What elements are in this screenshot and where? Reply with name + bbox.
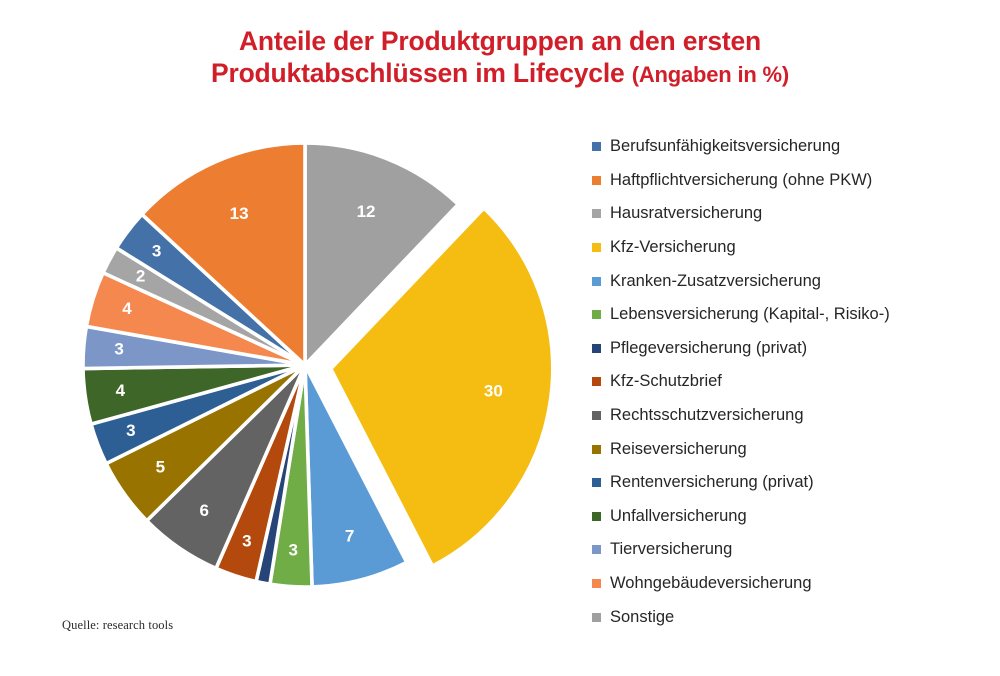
legend-item[interactable]: Wohngebäudeversicherung (592, 567, 992, 601)
pie-slice-value-label: 3 (242, 532, 251, 551)
legend-item[interactable]: Rechtsschutzversicherung (592, 399, 992, 433)
legend-item-label: Berufsunfähigkeitsversicherung (610, 137, 840, 156)
legend-swatch-icon (592, 411, 601, 420)
legend-item[interactable]: Rentenversicherung (privat) (592, 466, 992, 500)
legend-swatch-icon (592, 579, 601, 588)
title-unit-note: (Angaben in %) (632, 62, 789, 87)
legend-item-label: Hausratversicherung (610, 204, 762, 223)
pie-chart: 12307336534342313 (30, 130, 570, 650)
legend-swatch-icon (592, 445, 601, 454)
legend-item-label: Pflegeversicherung (privat) (610, 339, 807, 358)
pie-slice-value-label: 2 (136, 266, 145, 285)
pie-slice-value-label: 3 (288, 541, 297, 560)
pie-slice-value-label: 6 (200, 501, 209, 520)
pie-slice-value-label: 3 (114, 340, 123, 359)
legend-item[interactable]: Lebensversicherung (Kapital-, Risiko-) (592, 298, 992, 332)
legend-item[interactable]: Sonstige (592, 600, 992, 634)
chart-legend: BerufsunfähigkeitsversicherungHaftpflich… (592, 130, 992, 634)
legend-item-label: Sonstige (610, 608, 674, 627)
legend-item[interactable]: Reiseversicherung (592, 432, 992, 466)
legend-item[interactable]: Berufsunfähigkeitsversicherung (592, 130, 992, 164)
page-title: Anteile der Produktgruppen an den ersten… (0, 26, 1000, 90)
legend-item-label: Tierversicherung (610, 540, 732, 559)
legend-item-label: Reiseversicherung (610, 440, 747, 459)
legend-item[interactable]: Kranken-Zusatzversicherung (592, 264, 992, 298)
legend-item-label: Rechtsschutzversicherung (610, 406, 804, 425)
source-note: Quelle: research tools (62, 618, 173, 633)
legend-swatch-icon (592, 478, 601, 487)
legend-item[interactable]: Unfallversicherung (592, 500, 992, 534)
legend-item-label: Kfz-Schutzbrief (610, 372, 722, 391)
legend-item[interactable]: Pflegeversicherung (privat) (592, 332, 992, 366)
title-line-2-main: Produktabschlüssen im Lifecycle (211, 58, 625, 88)
legend-item-label: Unfallversicherung (610, 507, 747, 526)
legend-swatch-icon (592, 142, 601, 151)
legend-swatch-icon (592, 512, 601, 521)
legend-swatch-icon (592, 176, 601, 185)
pie-chart-svg: 12307336534342313 (30, 130, 570, 650)
legend-swatch-icon (592, 277, 601, 286)
legend-item-label: Rentenversicherung (privat) (610, 473, 814, 492)
pie-slice-value-label: 3 (126, 421, 135, 440)
pie-slice-value-label: 12 (357, 202, 376, 221)
title-line-2: Produktabschlüssen im Lifecycle (Angaben… (0, 58, 1000, 90)
pie-slice-value-label: 3 (152, 242, 161, 261)
legend-swatch-icon (592, 613, 601, 622)
chart-page: Anteile der Produktgruppen an den ersten… (0, 0, 1000, 676)
legend-item-label: Lebensversicherung (Kapital-, Risiko-) (610, 305, 890, 324)
legend-item[interactable]: Haftpflichtversicherung (ohne PKW) (592, 164, 992, 198)
legend-swatch-icon (592, 209, 601, 218)
legend-item-label: Kranken-Zusatzversicherung (610, 272, 821, 291)
legend-item[interactable]: Tierversicherung (592, 533, 992, 567)
title-line-1: Anteile der Produktgruppen an den ersten (0, 26, 1000, 58)
pie-slice-value-label: 5 (156, 458, 165, 477)
pie-slice-value-label: 4 (116, 381, 126, 400)
legend-item[interactable]: Kfz-Schutzbrief (592, 365, 992, 399)
legend-item-label: Wohngebäudeversicherung (610, 574, 812, 593)
pie-slice-value-label: 4 (122, 299, 132, 318)
pie-slice-value-label: 13 (230, 204, 249, 223)
legend-swatch-icon (592, 545, 601, 554)
legend-swatch-icon (592, 243, 601, 252)
pie-slice-group (83, 143, 553, 587)
legend-swatch-icon (592, 344, 601, 353)
legend-item-label: Kfz-Versicherung (610, 238, 736, 257)
legend-item[interactable]: Hausratversicherung (592, 197, 992, 231)
pie-slice-value-label: 30 (484, 382, 503, 401)
legend-item[interactable]: Kfz-Versicherung (592, 231, 992, 265)
legend-swatch-icon (592, 310, 601, 319)
legend-swatch-icon (592, 377, 601, 386)
pie-slice-value-label: 7 (345, 526, 354, 545)
legend-item-label: Haftpflichtversicherung (ohne PKW) (610, 171, 872, 190)
